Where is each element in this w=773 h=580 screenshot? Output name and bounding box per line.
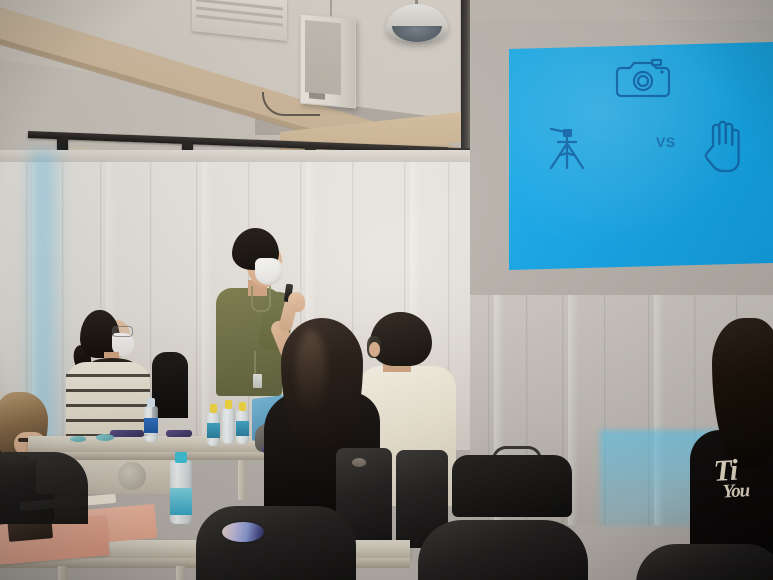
presenter-lanyard	[251, 286, 271, 312]
tripod-icon	[541, 120, 593, 172]
long-hair-highlight	[296, 330, 326, 414]
presenter-hand-holding-clicker	[288, 292, 305, 312]
slide-content: VS	[509, 42, 773, 270]
desk-leg	[238, 460, 246, 500]
photo-scene: VS	[0, 0, 773, 580]
chair-sticker	[222, 522, 264, 542]
speaker-grille	[305, 20, 341, 95]
left-student-glasses	[112, 326, 133, 337]
desk-front-leg	[176, 566, 185, 580]
cream-shirt-ear	[369, 342, 380, 357]
desk-front-leg	[58, 566, 67, 580]
presenter-id-badge	[253, 374, 262, 388]
backpack	[452, 455, 572, 517]
presenter-badge-strap	[254, 351, 256, 375]
water-bottle	[144, 398, 158, 442]
water-bottle	[222, 400, 235, 444]
right-person-shirt-print: Ti You	[713, 457, 750, 501]
curtain-header	[0, 150, 470, 162]
stationery-item	[110, 430, 144, 437]
desk-grommet	[118, 462, 146, 490]
water-bottle	[236, 402, 249, 444]
teal-disc	[70, 436, 86, 442]
chair-handle-hole	[352, 458, 366, 467]
slide-vs-label: VS	[656, 134, 676, 150]
water-bottle-foreground	[170, 452, 192, 524]
camera-icon	[614, 56, 672, 100]
stationery-item	[166, 430, 192, 437]
teal-disc	[96, 434, 114, 441]
water-bottle	[207, 404, 220, 446]
shirt-print-line-2: You	[722, 483, 749, 501]
chair-foreground-far-left[interactable]	[0, 452, 88, 524]
chair-foreground-right[interactable]	[418, 520, 588, 580]
chair-foreground-left[interactable]	[196, 506, 356, 580]
chair-foreground-far-right[interactable]	[636, 544, 773, 580]
hand-icon	[697, 116, 749, 174]
